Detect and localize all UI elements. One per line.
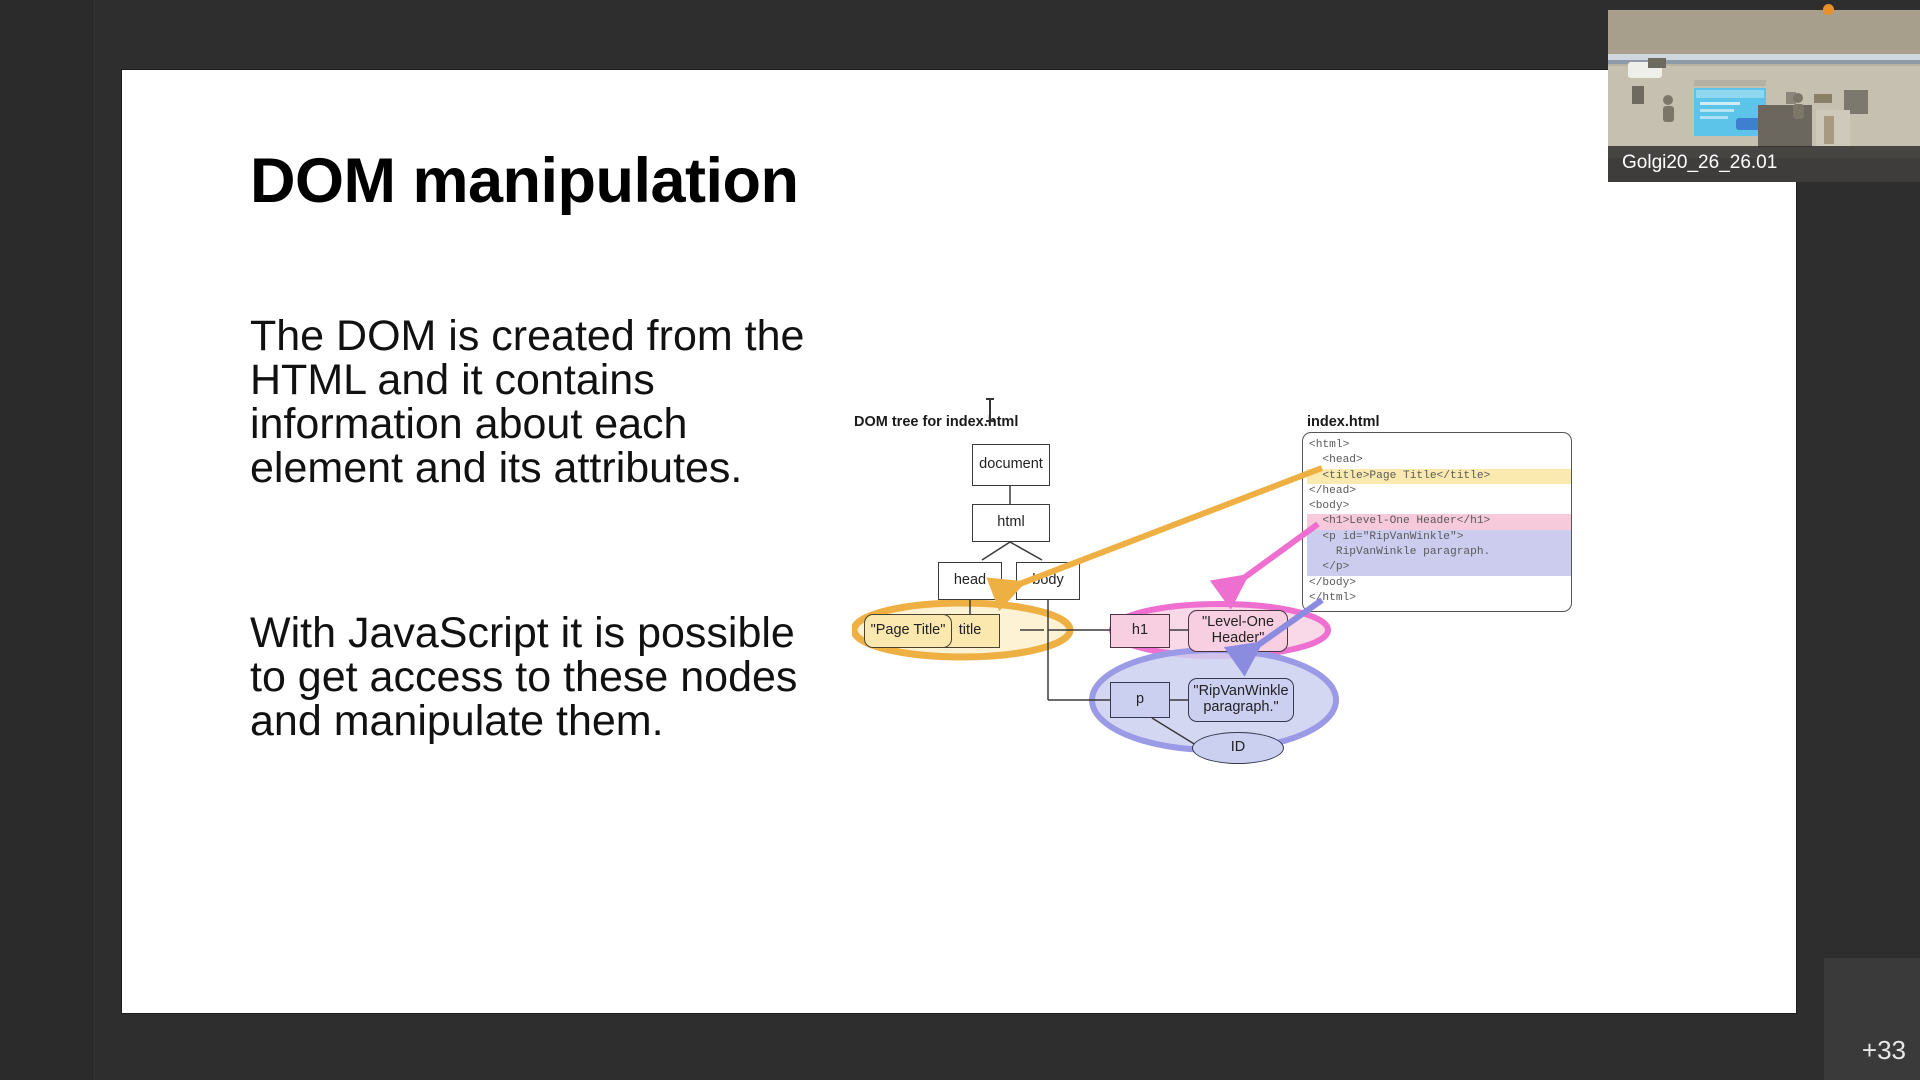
arrow-h1-pink: [1230, 524, 1318, 588]
slide-canvas[interactable]: DOM manipulation The DOM is created from…: [122, 70, 1796, 1013]
dom-tree-diagram: DOM tree for index.html index.html: [852, 410, 1782, 830]
recording-dot-icon: [1823, 4, 1834, 15]
diagram-arrows: [852, 410, 1782, 830]
arrow-title-orange: [1004, 468, 1322, 590]
participant-video-tile[interactable]: Golgi20_26_26.01: [1608, 10, 1920, 182]
slide-title: DOM manipulation: [250, 145, 798, 217]
left-rail: [0, 0, 95, 1080]
slide-paragraph-1: The DOM is created from the HTML and it …: [250, 315, 830, 490]
overflow-count-label: +33: [1862, 1035, 1906, 1066]
overflow-participants-tile[interactable]: +33: [1824, 958, 1920, 1080]
presentation-viewer: DOM manipulation The DOM is created from…: [0, 0, 1920, 1080]
slide-paragraph-2: With JavaScript it is possible to get ac…: [250, 612, 830, 744]
arrow-p-purple: [1244, 600, 1322, 655]
participant-name-label: Golgi20_26_26.01: [1608, 146, 1920, 182]
